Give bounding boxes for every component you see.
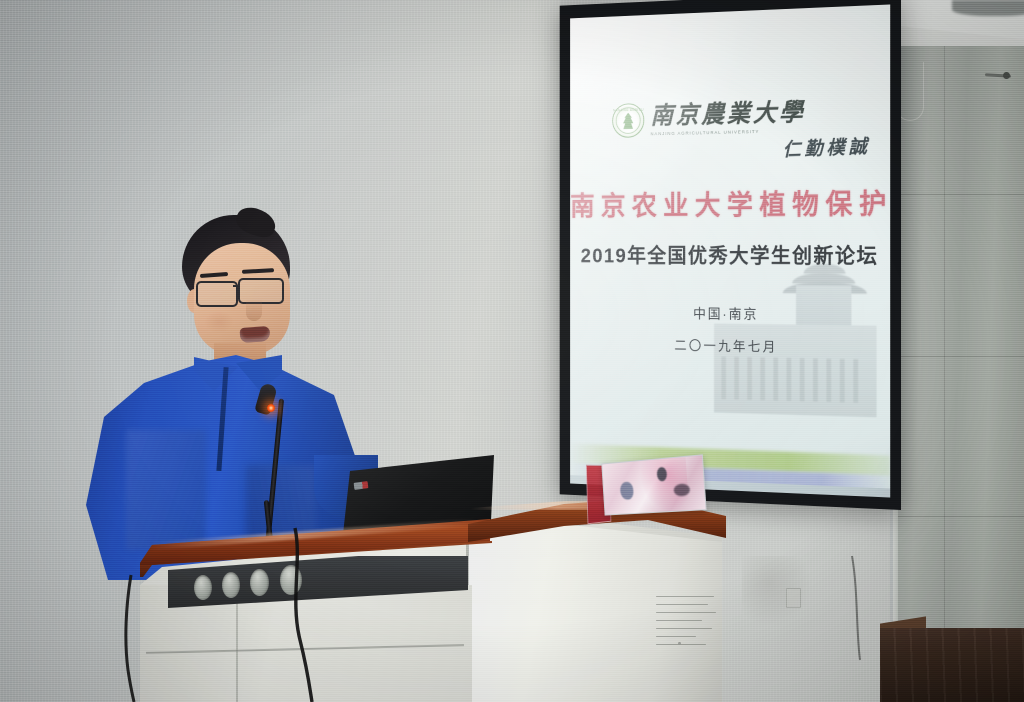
speaker	[86, 215, 376, 580]
speaker-nose	[246, 299, 262, 321]
photograph-scene: NANJING AGRICULTURAL UNIVERSITY 南京農業大學 N…	[0, 0, 1024, 702]
wall-socket	[786, 588, 801, 608]
slide-subtitle: 2019年全国优秀大学生创新论坛	[570, 240, 890, 270]
shirt-fold	[126, 430, 206, 550]
cable-port	[194, 575, 212, 600]
seal-arc-text: NANJING AGRICULTURAL UNIVERSITY	[613, 105, 643, 115]
wooden-floor	[880, 628, 1024, 702]
glasses-lens-left	[196, 281, 238, 307]
name-card-front-panel	[601, 454, 706, 515]
acrylic-name-card-holder[interactable]	[583, 459, 703, 521]
speaker-cheek	[204, 311, 234, 333]
cable-port	[222, 572, 240, 598]
stone-pillar	[898, 46, 1024, 658]
glasses-bridge	[233, 285, 240, 287]
building-watermark-image	[699, 271, 890, 452]
cable-port	[280, 565, 302, 595]
university-motto: 仁勤樸誠	[783, 132, 871, 162]
microphone-led-indicator	[267, 404, 275, 412]
projection-screen-surface: NANJING AGRICULTURAL UNIVERSITY 南京農業大學 N…	[570, 4, 890, 497]
projection-screen: NANJING AGRICULTURAL UNIVERSITY 南京農業大學 N…	[560, 0, 901, 510]
cable-port	[250, 569, 269, 596]
slide-date: 二〇一九年七月	[570, 333, 890, 358]
ceiling-vent	[952, 0, 1024, 16]
podium-vent-grille	[656, 596, 718, 652]
presentation-slide: NANJING AGRICULTURAL UNIVERSITY 南京農業大學 N…	[570, 4, 890, 497]
slide-title: 南京农业大学植物保护学院	[570, 182, 890, 224]
slide-location: 中国·南京	[570, 303, 890, 326]
university-name-cn: 南京農業大學	[651, 100, 806, 128]
university-logo: NANJING AGRICULTURAL UNIVERSITY 南京農業大學 N…	[612, 99, 805, 138]
university-seal-icon: NANJING AGRICULTURAL UNIVERSITY	[612, 103, 644, 138]
ceiling-rod-knob	[1003, 72, 1010, 79]
wall-smudge	[742, 556, 812, 626]
